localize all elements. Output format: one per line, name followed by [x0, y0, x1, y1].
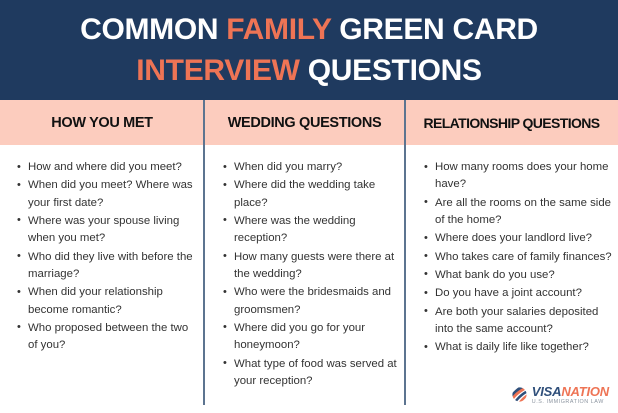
column-header-label: HOW YOU MET	[51, 115, 152, 131]
logo-text-block: VISANATION U.S. IMMIGRATION LAW	[532, 385, 609, 405]
title-text-green-card: GREEN CARD	[331, 13, 538, 46]
globe-icon	[511, 386, 528, 403]
title-banner: COMMON FAMILY GREEN CARD INTERVIEW QUEST…	[0, 0, 618, 100]
title-line-2: INTERVIEW QUESTIONS	[136, 51, 481, 92]
column-header-how-you-met: HOW YOU MET	[0, 100, 204, 145]
column-header-wedding-questions: WEDDING QUESTIONS	[204, 100, 405, 145]
list-item: When did your relationship become romant…	[17, 284, 198, 319]
list-item: Where does your landlord live?	[424, 230, 614, 247]
title-text-family: FAMILY	[226, 13, 331, 46]
list-item: How many rooms does your home have?	[424, 159, 614, 194]
visanation-logo: VISANATION U.S. IMMIGRATION LAW	[511, 385, 609, 405]
list-item: Who did they live with before the marria…	[17, 249, 198, 284]
logo-tagline: U.S. IMMIGRATION LAW	[532, 400, 609, 405]
list-item: Who takes care of family finances?	[424, 249, 614, 266]
title-line-1: COMMON FAMILY GREEN CARD	[80, 10, 538, 51]
logo-wordmark: VISANATION	[532, 385, 609, 398]
list-item: When did you meet? Where was your first …	[17, 177, 198, 212]
logo-word-nation: NATION	[561, 384, 609, 399]
list-item: What is daily life like together?	[424, 339, 614, 356]
column-header-band: HOW YOU MET WEDDING QUESTIONS RELATIONSH…	[0, 100, 618, 145]
list-item: Where was your spouse living when you me…	[17, 213, 198, 248]
list-item: Where did you go for your honeymoon?	[223, 320, 399, 355]
logo-word-visa: VISA	[532, 384, 562, 399]
list-item: What bank do you use?	[424, 267, 614, 284]
list-item: Who were the bridesmaids and groomsmen?	[223, 284, 399, 319]
list-item: Where was the wedding reception?	[223, 213, 399, 248]
list-item: Are both your salaries deposited into th…	[424, 304, 614, 339]
list-item: Do you have a joint account?	[424, 285, 614, 302]
question-list: How and where did you meet? When did you…	[17, 159, 198, 355]
column-header-label: RELATIONSHIP QUESTIONS	[423, 115, 599, 131]
title-text-common: COMMON	[80, 13, 226, 46]
infographic-root: COMMON FAMILY GREEN CARD INTERVIEW QUEST…	[0, 0, 618, 413]
question-list: How many rooms does your home have? Are …	[424, 159, 614, 357]
column-header-label: WEDDING QUESTIONS	[228, 115, 382, 131]
column-wedding-questions: When did you marry? Where did the weddin…	[204, 145, 405, 413]
column-how-you-met: How and where did you meet? When did you…	[0, 145, 204, 413]
list-item: Where did the wedding take place?	[223, 177, 399, 212]
list-item: Who proposed between the two of you?	[17, 320, 198, 355]
question-list: When did you marry? Where did the weddin…	[223, 159, 399, 390]
list-item: Are all the rooms on the same side of th…	[424, 195, 614, 230]
title-text-interview: INTERVIEW	[136, 54, 299, 87]
columns-container: How and where did you meet? When did you…	[0, 145, 618, 413]
list-item: How many guests were there at the weddin…	[223, 249, 399, 284]
column-header-relationship-questions: RELATIONSHIP QUESTIONS	[405, 100, 618, 145]
list-item: When did you marry?	[223, 159, 399, 176]
title-text-questions: QUESTIONS	[300, 54, 482, 87]
list-item: What type of food was served at your rec…	[223, 356, 399, 391]
list-item: How and where did you meet?	[17, 159, 198, 176]
column-relationship-questions: How many rooms does your home have? Are …	[405, 145, 618, 413]
